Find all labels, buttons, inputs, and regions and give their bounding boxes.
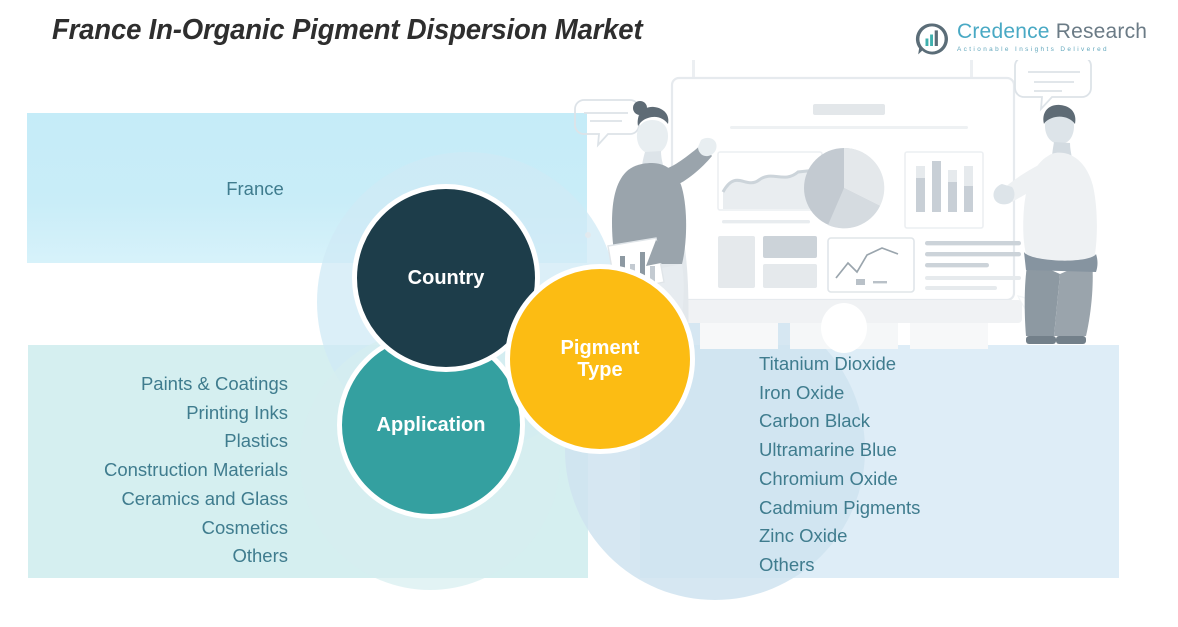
logo-bar-chart-icon bbox=[915, 22, 949, 56]
list-item: Paints & Coatings bbox=[28, 370, 288, 399]
list-item: Cosmetics bbox=[28, 514, 288, 543]
speech-bubble-icon bbox=[1015, 60, 1091, 109]
pigment-type-circle-label-line1: Pigment bbox=[561, 337, 640, 359]
country-circle-label: Country bbox=[408, 267, 485, 289]
logo-name-research: Research bbox=[1056, 20, 1147, 43]
list-item: Ceramics and Glass bbox=[28, 485, 288, 514]
list-item: Others bbox=[28, 542, 288, 571]
list-item: Ultramarine Blue bbox=[759, 436, 1089, 465]
pigment-type-circle[interactable]: Pigment Type bbox=[505, 264, 695, 454]
list-item: Cadmium Pigments bbox=[759, 494, 1089, 523]
list-item: Zinc Oxide bbox=[759, 522, 1089, 551]
brand-logo: Credence Research Actionable Insights De… bbox=[915, 20, 1105, 62]
speech-bubble-icon bbox=[575, 100, 639, 145]
list-item: Others bbox=[759, 551, 1089, 580]
pigment-type-list: Titanium Dioxide Iron Oxide Carbon Black… bbox=[759, 350, 1089, 580]
logo-name-credence: Credence bbox=[957, 20, 1050, 43]
dot-decoration-icon bbox=[585, 232, 591, 238]
monitor-illustration bbox=[664, 78, 1022, 353]
page-title: France In-Organic Pigment Dispersion Mar… bbox=[52, 14, 642, 47]
list-item: Plastics bbox=[28, 427, 288, 456]
pigment-type-circle-label: Pigment Type bbox=[561, 337, 640, 382]
pie-chart-icon bbox=[804, 148, 884, 228]
list-item: Carbon Black bbox=[759, 407, 1089, 436]
country-item-france: France bbox=[125, 178, 385, 200]
logo-tagline: Actionable Insights Delivered bbox=[957, 46, 1147, 53]
application-circle-label: Application bbox=[377, 414, 486, 436]
list-item: Titanium Dioxide bbox=[759, 350, 1089, 379]
list-item: Printing Inks bbox=[28, 399, 288, 428]
infographic-canvas: France In-Organic Pigment Dispersion Mar… bbox=[0, 0, 1178, 627]
list-item: Construction Materials bbox=[28, 456, 288, 485]
pigment-type-circle-label-line2: Type bbox=[577, 359, 622, 381]
logo-wordmark: Credence Research Actionable Insights De… bbox=[957, 20, 1147, 53]
logo-name: Credence Research bbox=[957, 20, 1147, 44]
list-item: Chromium Oxide bbox=[759, 465, 1089, 494]
application-list: Paints & Coatings Printing Inks Plastics… bbox=[28, 370, 288, 571]
list-item: Iron Oxide bbox=[759, 379, 1089, 408]
